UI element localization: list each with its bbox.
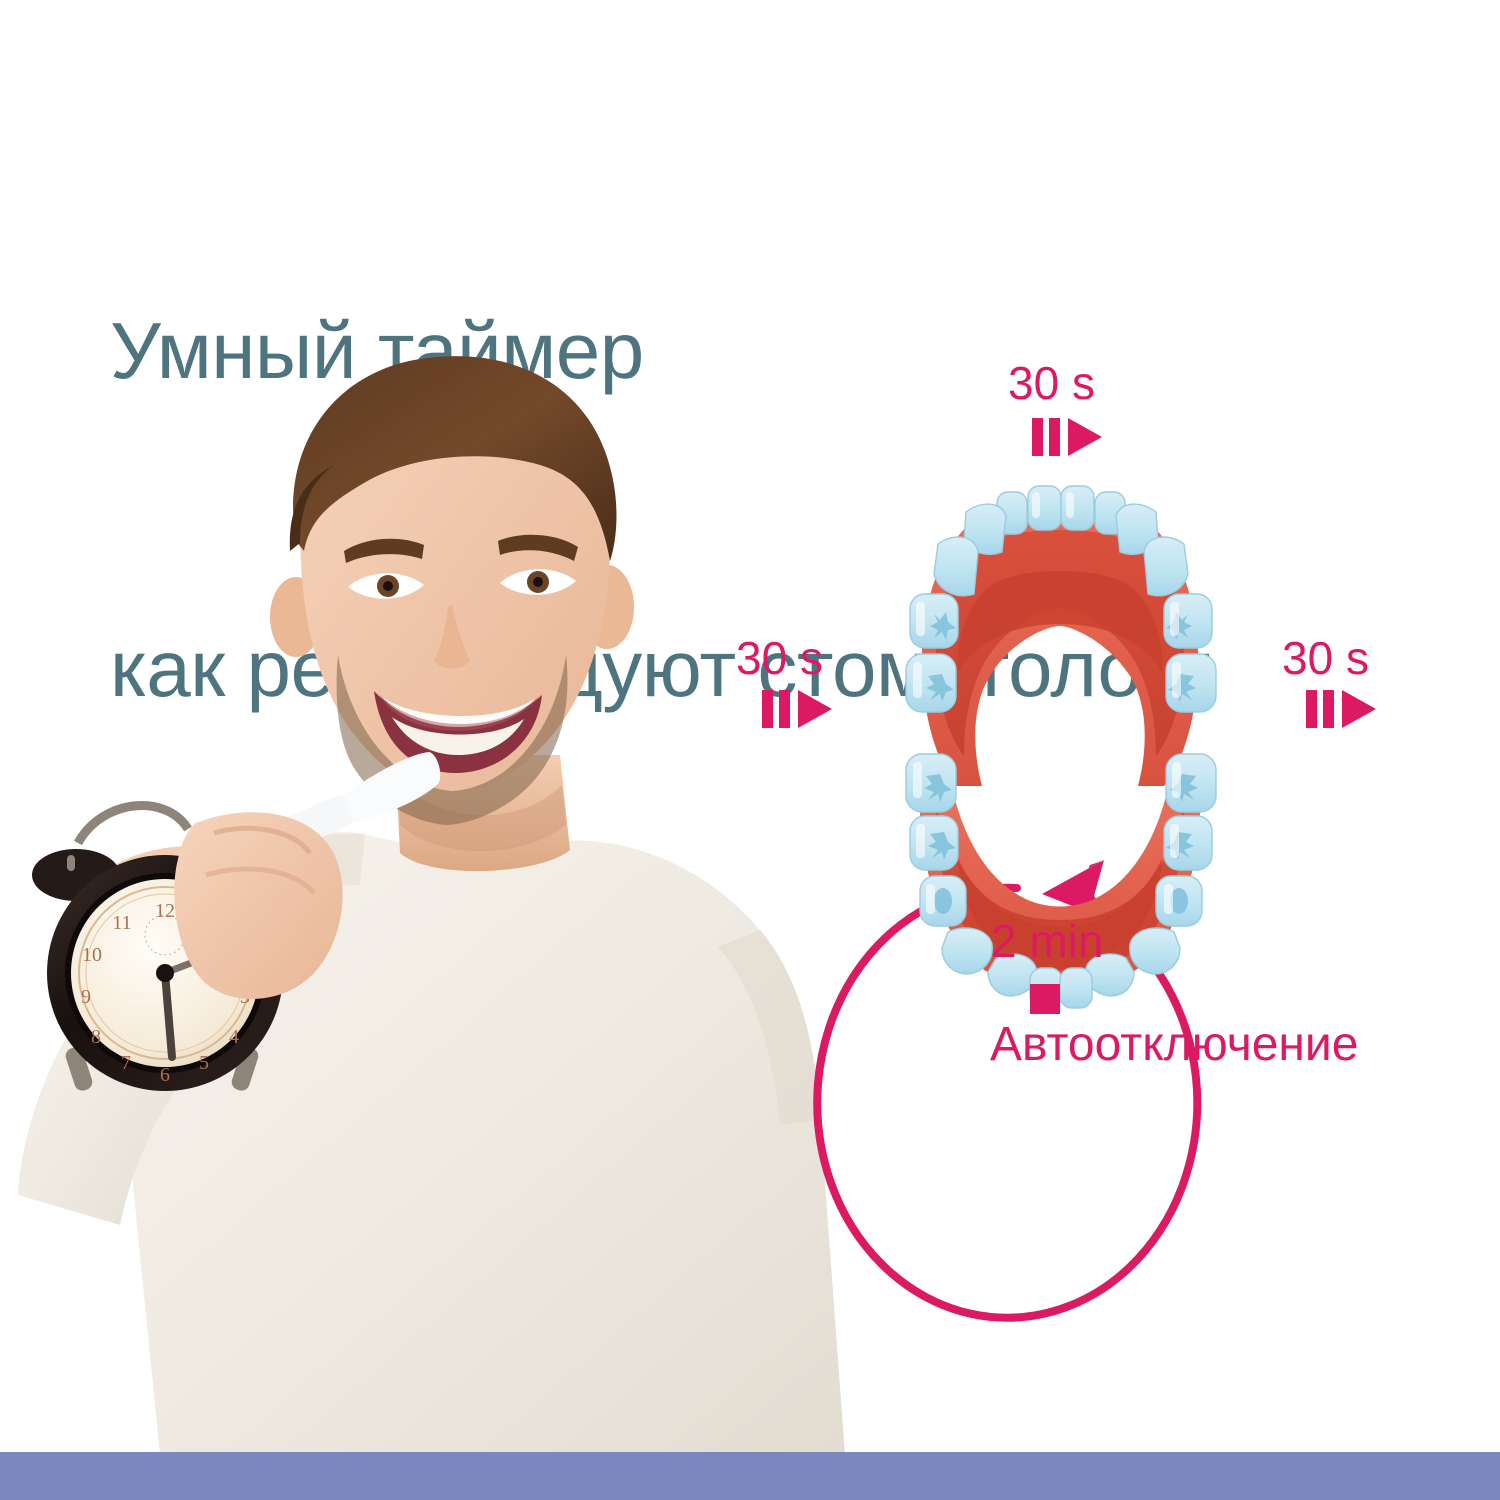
svg-text:6: 6 [160,1064,170,1086]
skip-forward-icon-right [1306,690,1378,728]
svg-text:4: 4 [229,1026,239,1048]
svg-text:12: 12 [155,900,175,922]
svg-text:9: 9 [81,986,91,1008]
timer-cycle-diagram [690,340,1450,1120]
poster-canvas: Умный таймер как рекомендуют стоматологи [0,0,1500,1500]
label-30s-left: 30 s [736,635,823,681]
skip-forward-icon-left [762,690,834,728]
person-head [270,356,634,825]
svg-text:11: 11 [112,912,131,934]
label-auto-shutoff: Автоотключение [990,1022,1358,1068]
svg-text:8: 8 [91,1026,101,1048]
teeth-upper-arch-icon [906,486,1216,786]
label-30s-top: 30 s [1008,360,1095,406]
svg-text:5: 5 [199,1052,209,1074]
svg-text:10: 10 [82,944,102,966]
svg-text:7: 7 [121,1052,131,1074]
skip-forward-icon-top [1032,418,1104,456]
stop-square-icon [1030,984,1060,1014]
teeth-lower-arch-icon [906,754,1216,1008]
label-30s-right: 30 s [1282,635,1369,681]
footer-bar [0,1452,1500,1500]
label-total-duration: 2 min [991,918,1103,964]
